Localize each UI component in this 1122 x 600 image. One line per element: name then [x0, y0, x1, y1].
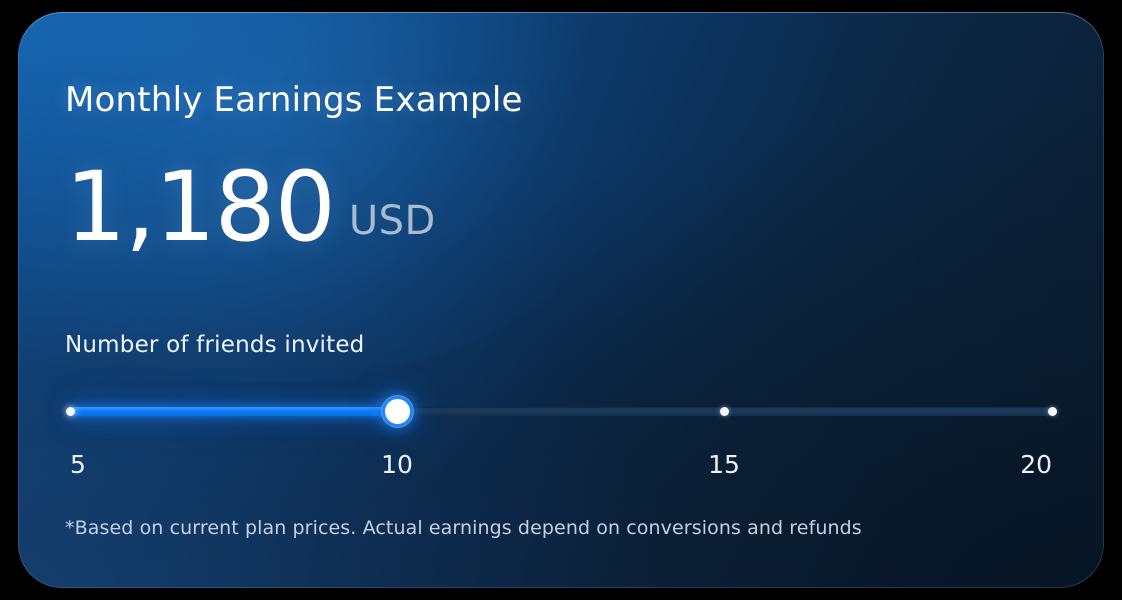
slider-thumb[interactable] [382, 396, 413, 427]
earnings-calculator-card: Monthly Earnings Example 1,180 USD Numbe… [18, 12, 1104, 588]
page-title: Monthly Earnings Example [65, 80, 523, 120]
slider-label: Number of friends invited [65, 332, 365, 358]
earnings-amount: 1,180 USD [65, 162, 436, 253]
slider-tick-labels: 5101520 [70, 450, 1052, 486]
footnote-disclaimer: *Based on current plan prices. Actual ea… [65, 517, 862, 539]
friends-invited-slider[interactable] [70, 393, 1052, 429]
slider-tick-label: 5 [70, 450, 86, 479]
slider-tick-label: 10 [381, 450, 413, 479]
slider-tick-dot[interactable] [720, 407, 729, 416]
slider-tick-dot[interactable] [1048, 407, 1057, 416]
earnings-amount-value: 1,180 [65, 162, 335, 253]
slider-tick-dot[interactable] [66, 407, 75, 416]
slider-track-fill [70, 407, 397, 416]
earnings-amount-currency: USD [349, 201, 436, 253]
slider-tick-label: 20 [1020, 450, 1052, 479]
screenshot-root: Monthly Earnings Example 1,180 USD Numbe… [0, 0, 1122, 600]
slider-tick-label: 15 [708, 450, 740, 479]
card-content: Monthly Earnings Example 1,180 USD Numbe… [18, 12, 1104, 588]
